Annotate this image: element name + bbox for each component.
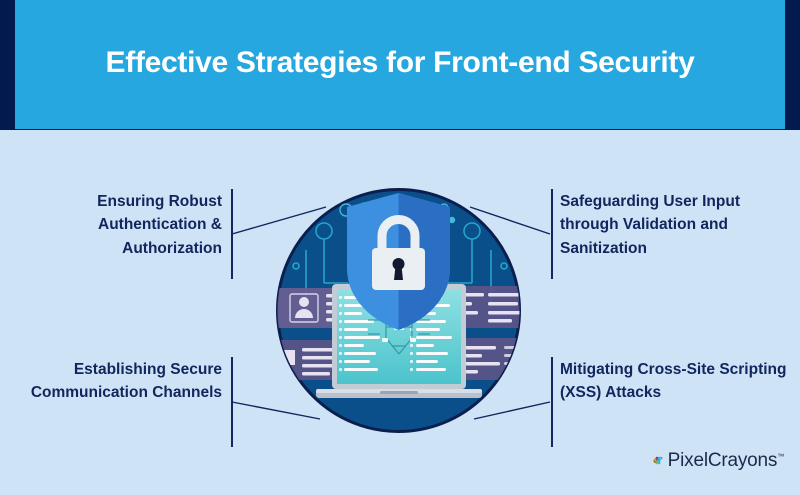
- trademark-symbol: ™: [777, 454, 784, 461]
- page-title: Effective Strategies for Front-end Secur…: [90, 43, 710, 86]
- strategy-label-secure-communication: Establishing Secure Communication Channe…: [22, 358, 222, 405]
- tick-xss: [551, 357, 553, 447]
- strategy-label-authentication: Ensuring Robust Authentication & Authori…: [22, 190, 222, 260]
- header-band: Effective Strategies for Front-end Secur…: [15, 0, 785, 129]
- pixelcrayons-bird-icon: [652, 441, 665, 481]
- infographic-canvas: Effective Strategies for Front-end Secur…: [0, 0, 800, 495]
- tick-validation: [551, 189, 553, 279]
- header-bar: Effective Strategies for Front-end Secur…: [0, 0, 800, 130]
- tick-authentication: [231, 189, 233, 279]
- pixelcrayons-logo[interactable]: PixelCrayons™: [652, 437, 784, 485]
- tick-secure-communication: [231, 357, 233, 447]
- front-end-security-illustration: [276, 188, 521, 433]
- pixelcrayons-wordmark: PixelCrayons™: [668, 450, 784, 472]
- strategy-label-xss: Mitigating Cross-Site Scripting (XSS) At…: [560, 358, 790, 405]
- logo-text-label: PixelCrayons: [668, 450, 778, 471]
- strategy-label-validation: Safeguarding User Input through Validati…: [560, 190, 790, 260]
